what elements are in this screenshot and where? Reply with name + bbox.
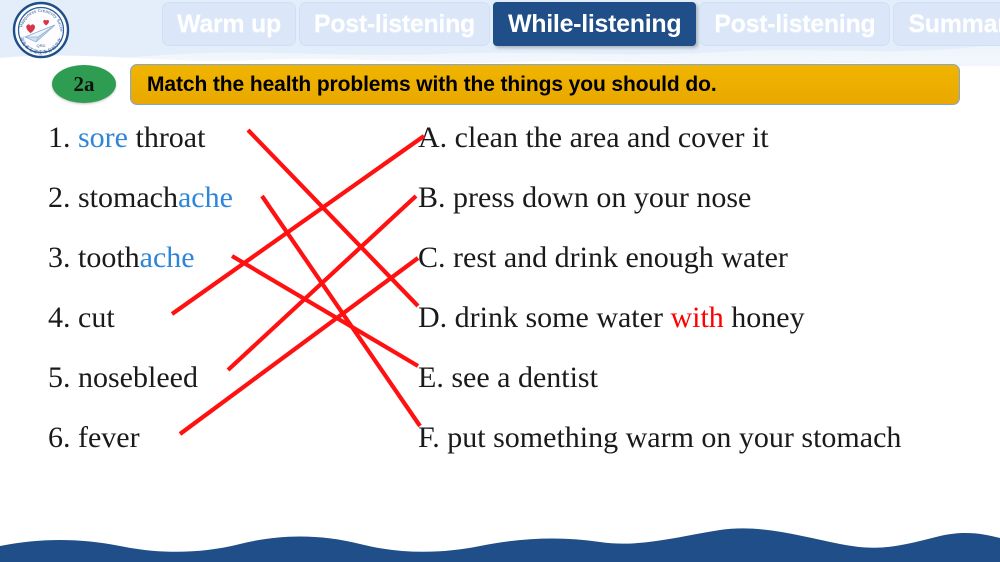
remedies-column: A. clean the area and cover it B. press … [418,108,978,468]
logo-graphic: Happiness Creativity Successfulness 河北省石… [5,1,77,59]
item-number: 4. [48,301,71,334]
list-item-e[interactable]: E. see a dentist [418,348,978,408]
item-text: see a dentist [451,361,598,394]
exercise-badge-2a: 2a [52,65,116,103]
item-text: press down on your nose [453,181,751,214]
item-text-pre: drink some water [455,301,663,334]
list-item-1[interactable]: 1. sore throat [48,108,348,168]
item-letter: E. [418,361,444,394]
item-number: 2. [48,181,71,214]
svg-text:QRD: QRD [37,43,46,48]
item-number: 6. [48,421,71,454]
instruction-text: Match the health problems with the thing… [147,73,717,97]
health-problems-column: 1. sore throat 2. stomachache 3. toothac… [48,108,348,468]
footer-wave [0,502,1000,562]
list-item-3[interactable]: 3. toothache [48,228,348,288]
item-text: rest and drink enough water [453,241,788,274]
item-text-post: honey [731,301,804,334]
item-letter: A. [418,121,447,154]
list-item-b[interactable]: B. press down on your nose [418,168,978,228]
item-text-pre: sore [78,121,128,154]
item-number: 5. [48,361,71,394]
item-text-pre: tooth [78,241,140,274]
item-text-pre: stomach [78,181,178,214]
list-item-a[interactable]: A. clean the area and cover it [418,108,978,168]
tab-post-listening-2[interactable]: Post-listening [699,2,890,46]
item-text-highlight: with [670,301,723,334]
list-item-d[interactable]: D. drink some water with honey [418,288,978,348]
item-text: nosebleed [78,361,198,394]
item-text: fever [78,421,140,454]
footer-wave-shape [0,502,1000,562]
tab-post-listening-1[interactable]: Post-listening [299,2,490,46]
item-number: 1. [48,121,71,154]
tab-while-listening[interactable]: While-listening [493,2,696,46]
section-tabs[interactable]: Warm up Post-listening While-listening P… [162,2,1000,46]
tab-summary[interactable]: Summary [893,2,1000,46]
item-text-highlight: ache [140,241,195,274]
matching-exercise: 1. sore throat 2. stomachache 3. toothac… [0,108,1000,468]
item-number: 3. [48,241,71,274]
list-item-f[interactable]: F. put something warm on your stomach [418,408,978,468]
tab-warm-up[interactable]: Warm up [162,2,296,46]
item-text-highlight: ache [178,181,233,214]
item-letter: C. [418,241,446,274]
item-letter: D. [418,301,447,334]
prompt-row: 2a Match the health problems with the th… [52,64,972,106]
slide-canvas: Happiness Creativity Successfulness 河北省石… [0,0,1000,562]
list-item-4[interactable]: 4. cut [48,288,348,348]
school-badge-logo: Happiness Creativity Successfulness 河北省石… [5,1,77,59]
item-text-rest: throat [135,121,205,154]
instruction-bar: Match the health problems with the thing… [130,64,960,105]
item-text: cut [78,301,115,334]
list-item-5[interactable]: 5. nosebleed [48,348,348,408]
list-item-2[interactable]: 2. stomachache [48,168,348,228]
item-text: clean the area and cover it [455,121,769,154]
item-text: put something warm on your stomach [447,421,901,454]
list-item-c[interactable]: C. rest and drink enough water [418,228,978,288]
list-item-6[interactable]: 6. fever [48,408,348,468]
item-letter: F. [418,421,440,454]
item-letter: B. [418,181,446,214]
